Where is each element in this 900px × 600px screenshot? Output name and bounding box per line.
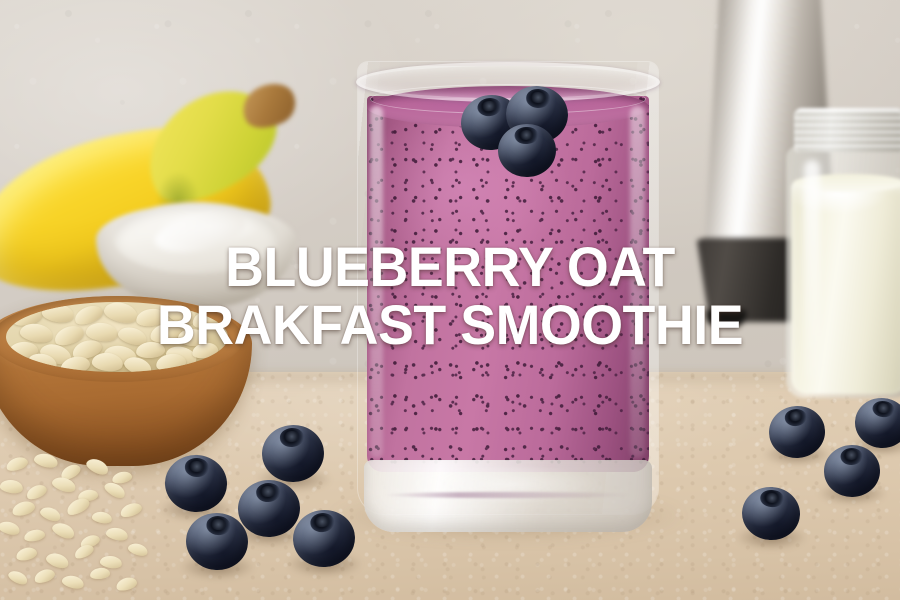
title-line-2: BRAKFAST SMOOTHIE bbox=[18, 296, 882, 354]
title-line-1: BLUEBERRY OAT bbox=[18, 238, 882, 296]
recipe-hero-image: BLUEBERRY OAT BRAKFAST SMOOTHIE bbox=[0, 0, 900, 600]
title-overlay: BLUEBERRY OAT BRAKFAST SMOOTHIE bbox=[0, 238, 900, 354]
